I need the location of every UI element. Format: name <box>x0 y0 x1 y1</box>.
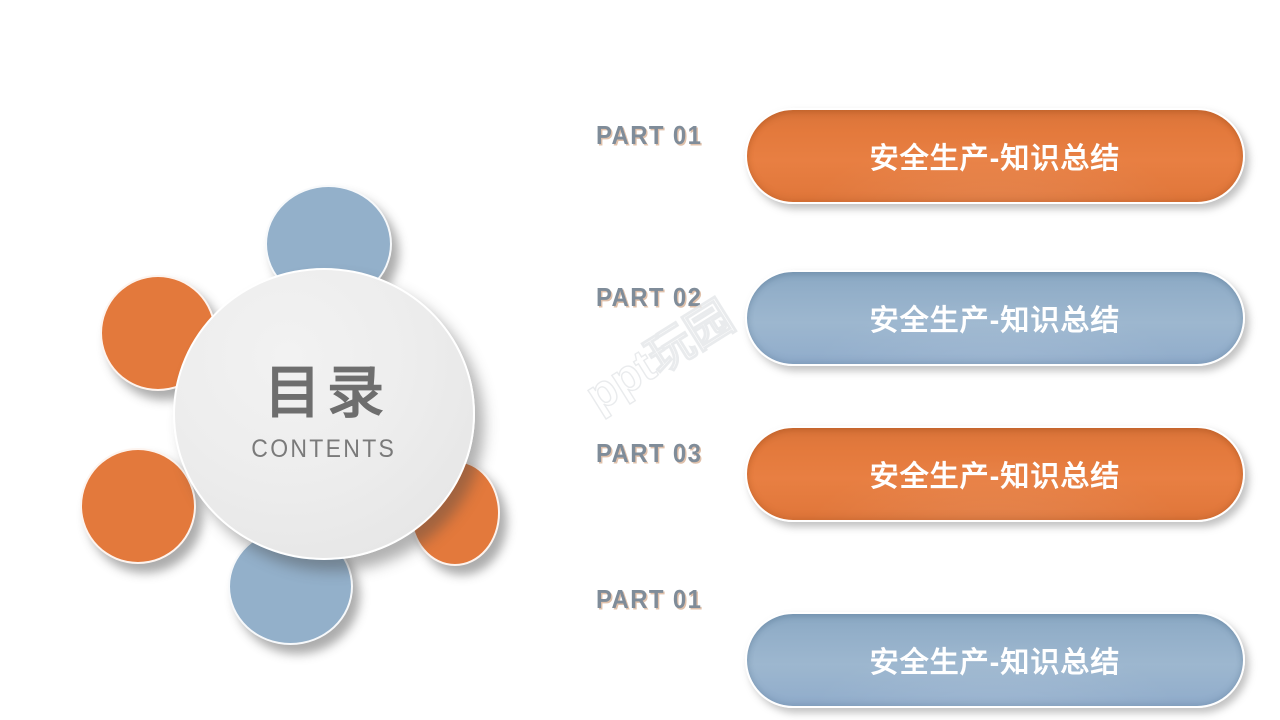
contents-pill-2[interactable]: 安全生产-知识总结 <box>745 270 1245 366</box>
part-label-4: PART 01 <box>596 584 702 615</box>
part-label-1: PART 01 <box>596 120 702 151</box>
contents-list: PART 01 安全生产-知识总结 PART 02 安全生产-知识总结 PART… <box>590 60 1260 700</box>
contents-pill-label-3: 安全生产-知识总结 <box>870 453 1121 495</box>
contents-pill-3[interactable]: 安全生产-知识总结 <box>745 426 1245 522</box>
contents-pill-1[interactable]: 安全生产-知识总结 <box>745 108 1245 204</box>
contents-row-1[interactable]: PART 01 安全生产-知识总结 <box>590 82 1260 194</box>
contents-pill-label-1: 安全生产-知识总结 <box>870 135 1121 177</box>
slide-canvas: 目录 CONTENTS ppt玩园 PART 01 安全生产-知识总结 PART… <box>0 0 1280 720</box>
contents-pill-4[interactable]: 安全生产-知识总结 <box>745 612 1245 708</box>
contents-pill-label-2: 安全生产-知识总结 <box>870 297 1121 339</box>
page-subtitle: CONTENTS <box>252 435 397 464</box>
contents-row-3[interactable]: PART 03 安全生产-知识总结 <box>590 400 1260 512</box>
contents-pill-label-4: 安全生产-知识总结 <box>870 639 1121 681</box>
contents-row-2[interactable]: PART 02 安全生产-知识总结 <box>590 244 1260 356</box>
circle-bottom-left-icon <box>80 448 196 564</box>
contents-graphic: 目录 CONTENTS <box>70 160 570 630</box>
contents-row-4[interactable]: PART 01 安全生产-知识总结 <box>590 556 1260 668</box>
page-title: 目录 <box>258 364 390 424</box>
part-label-3: PART 03 <box>596 438 702 469</box>
contents-center-badge: 目录 CONTENTS <box>173 268 475 560</box>
part-label-2: PART 02 <box>596 282 702 313</box>
